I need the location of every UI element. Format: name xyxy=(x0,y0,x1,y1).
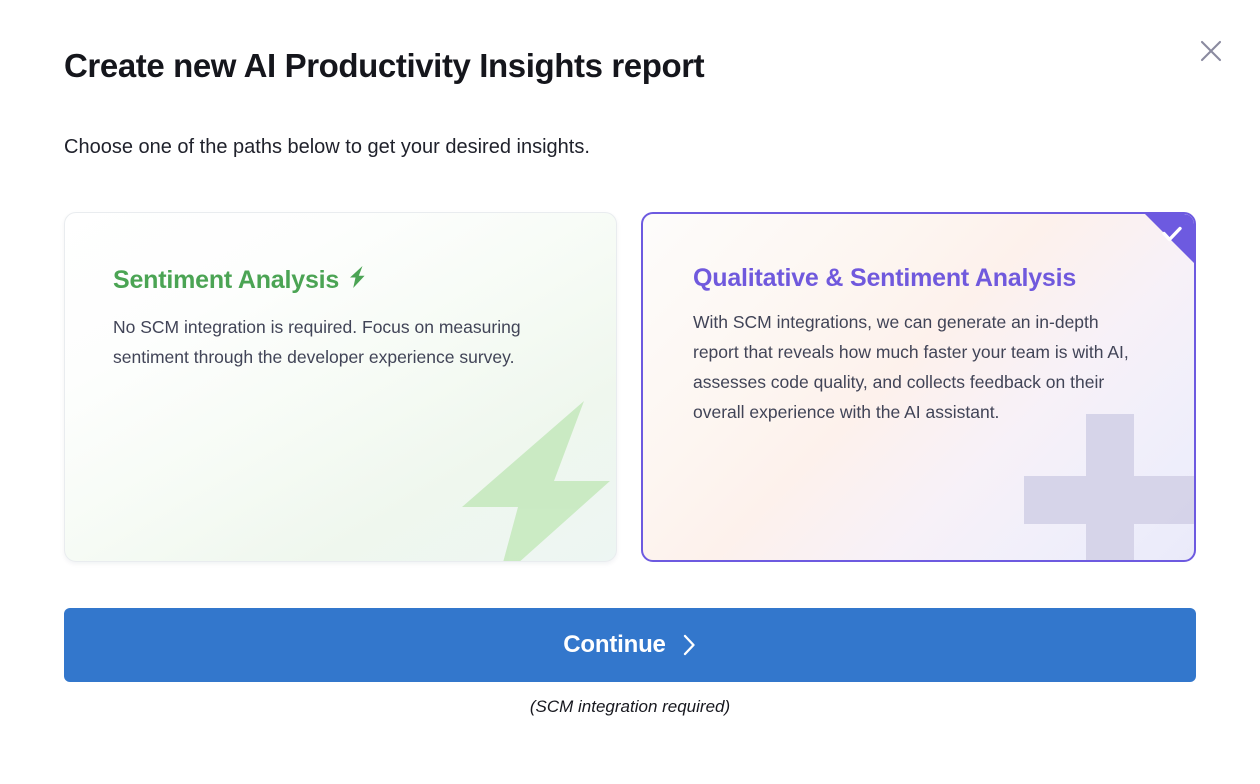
lightning-bolt-decoration xyxy=(434,395,617,562)
chevron-right-icon xyxy=(682,633,697,657)
create-report-dialog: Create new AI Productivity Insights repo… xyxy=(0,0,1260,784)
close-icon[interactable] xyxy=(1194,34,1228,68)
path-options: Sentiment Analysis No SCM integration is… xyxy=(64,212,1196,562)
card-title: Sentiment Analysis xyxy=(113,259,572,302)
card-description: With SCM integrations, we can generate a… xyxy=(693,307,1135,427)
lightning-bolt-icon xyxy=(347,260,367,302)
card-title-text: Sentiment Analysis xyxy=(113,266,339,294)
continue-button-label: Continue xyxy=(563,631,665,659)
continue-button[interactable]: Continue xyxy=(64,608,1196,682)
plus-decoration xyxy=(1024,414,1194,562)
option-card-sentiment-analysis[interactable]: Sentiment Analysis No SCM integration is… xyxy=(64,212,617,562)
scm-requirement-note: (SCM integration required) xyxy=(0,694,1260,720)
card-title: Qualitative & Sentiment Analysis xyxy=(693,258,1150,299)
page-subtitle: Choose one of the paths below to get you… xyxy=(64,133,590,161)
card-description: No SCM integration is required. Focus on… xyxy=(113,312,543,372)
option-card-qualitative-sentiment-analysis[interactable]: Qualitative & Sentiment Analysis With SC… xyxy=(641,212,1196,562)
card-content: Sentiment Analysis No SCM integration is… xyxy=(65,213,616,372)
page-title: Create new AI Productivity Insights repo… xyxy=(64,44,704,88)
card-content: Qualitative & Sentiment Analysis With SC… xyxy=(643,214,1194,427)
